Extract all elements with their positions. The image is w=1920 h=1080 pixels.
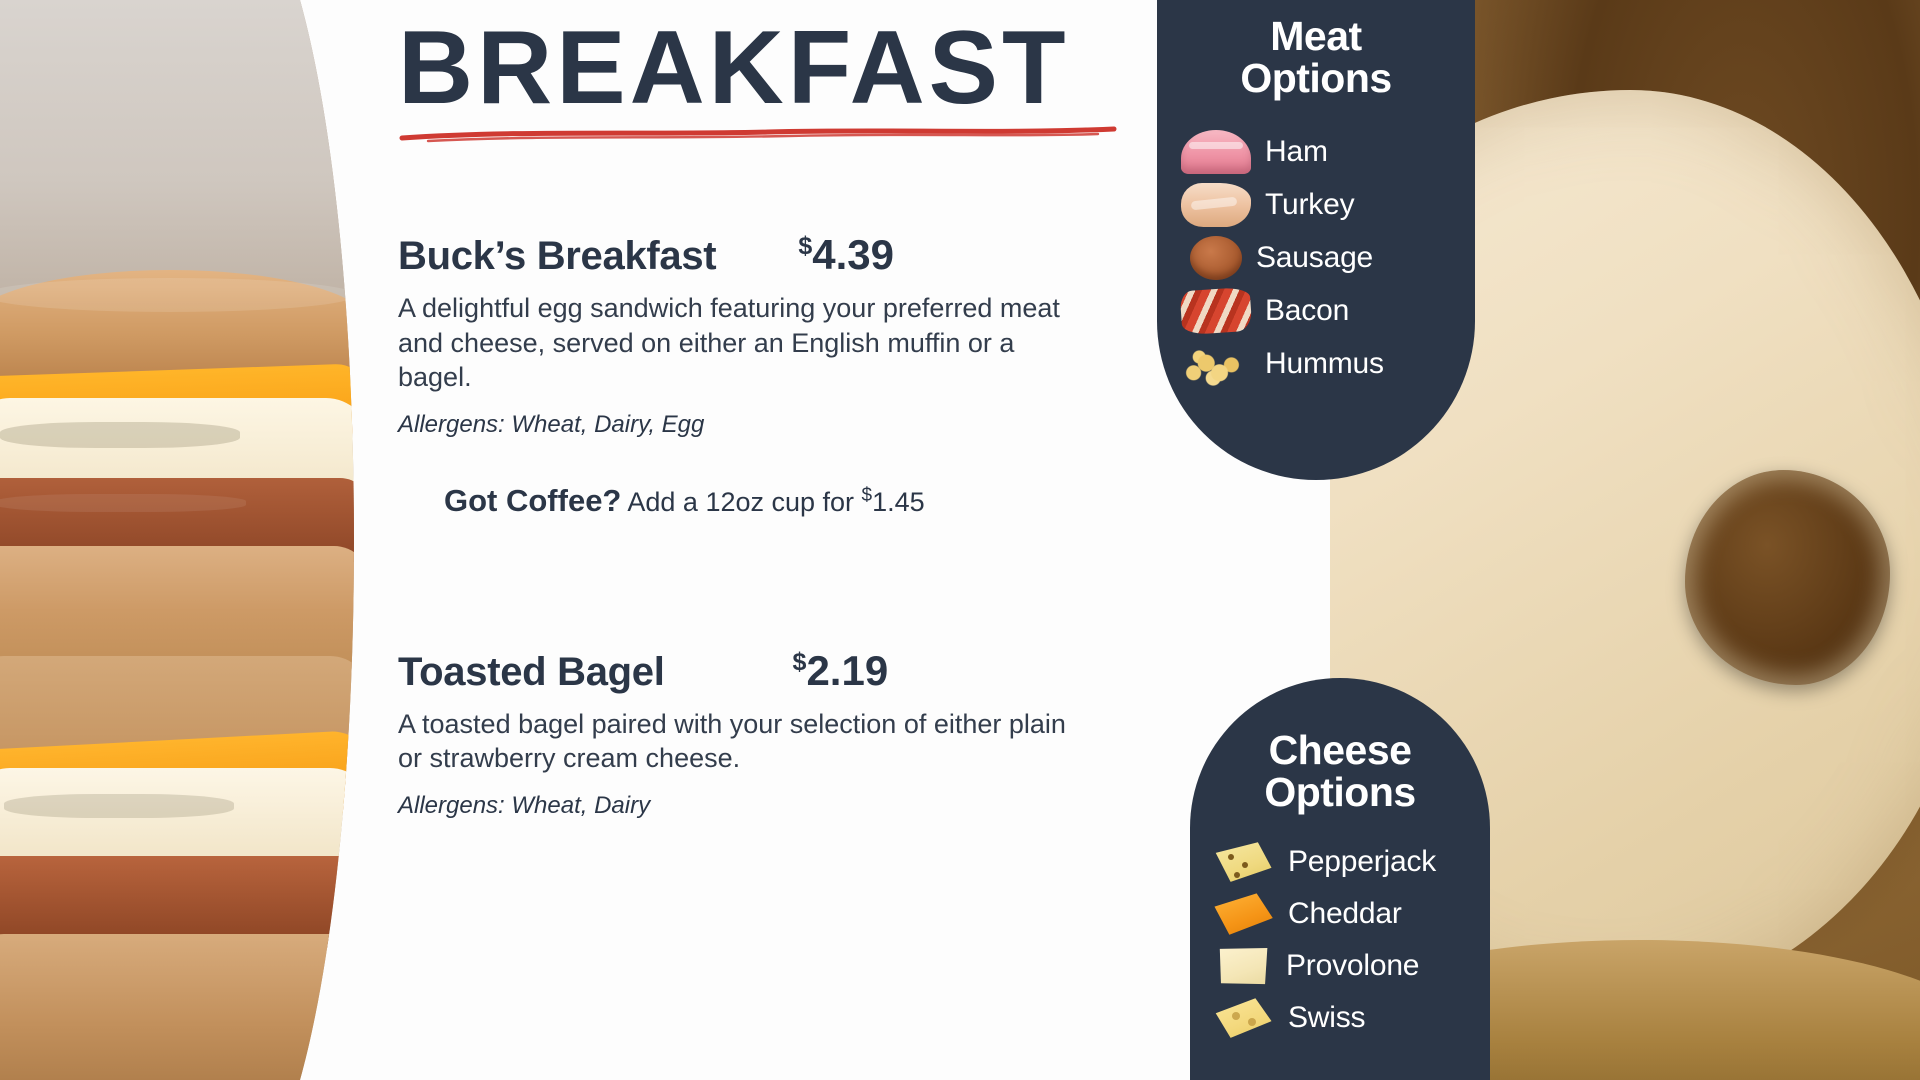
coffee-promo: Got Coffee? Add a 12oz cup for $1.45 bbox=[392, 483, 1142, 519]
list-item[interactable]: Turkey bbox=[1181, 179, 1457, 232]
option-label: Provolone bbox=[1286, 949, 1419, 983]
option-label: Swiss bbox=[1288, 1001, 1365, 1035]
hummus-icon bbox=[1181, 342, 1251, 386]
currency-symbol: $ bbox=[798, 232, 812, 260]
price-value: 4.39 bbox=[812, 231, 894, 278]
item-name: Toasted Bagel bbox=[398, 650, 665, 695]
sausage-icon bbox=[1190, 236, 1242, 280]
option-label: Ham bbox=[1265, 135, 1328, 169]
item-description: A delightful egg sandwich featuring your… bbox=[398, 291, 1088, 395]
bagel-hole bbox=[1685, 470, 1890, 685]
menu-item-toasted-bagel: Toasted Bagel $2.19 A toasted bagel pair… bbox=[392, 647, 1142, 820]
promo-price: 1.45 bbox=[872, 487, 925, 517]
cheese-options-list: Pepperjack Cheddar Provolone Swiss bbox=[1208, 836, 1472, 1044]
sandwich-stack bbox=[0, 270, 372, 1080]
option-label: Pepperjack bbox=[1288, 845, 1436, 879]
cheese-options-card: Cheese Options Pepperjack Cheddar Provol… bbox=[1190, 678, 1490, 1080]
cheese-options-title: Cheese Options bbox=[1208, 730, 1472, 814]
menu-board: BREAKFAST Buck’s Breakfast $4.39 A delig… bbox=[0, 0, 1920, 1080]
item-header-row: Buck’s Breakfast $4.39 bbox=[398, 231, 1142, 279]
list-item[interactable]: Bacon bbox=[1181, 285, 1457, 338]
promo-currency: $ bbox=[862, 485, 873, 506]
meat-options-list: Ham Turkey Sausage Bacon Hummus bbox=[1175, 126, 1457, 391]
list-item[interactable]: Pepperjack bbox=[1208, 836, 1472, 888]
swiss-icon bbox=[1212, 996, 1274, 1040]
list-item[interactable]: Cheddar bbox=[1208, 888, 1472, 940]
item-header-row: Toasted Bagel $2.19 bbox=[398, 647, 1142, 695]
option-label: Cheddar bbox=[1288, 897, 1402, 931]
list-item[interactable]: Sausage bbox=[1181, 232, 1457, 285]
option-label: Turkey bbox=[1265, 188, 1354, 222]
promo-headline: Got Coffee? bbox=[444, 483, 621, 518]
menu-content: BREAKFAST Buck’s Breakfast $4.39 A delig… bbox=[372, 0, 1162, 1080]
option-label: Hummus bbox=[1265, 347, 1384, 381]
price-value: 2.19 bbox=[806, 647, 888, 694]
bacon-icon bbox=[1180, 287, 1253, 336]
egg-layer-2 bbox=[0, 768, 370, 864]
cheddar-icon bbox=[1212, 892, 1274, 936]
promo-text: Add a 12oz cup for bbox=[621, 487, 861, 517]
item-allergens: Allergens: Wheat, Dairy bbox=[398, 792, 1142, 820]
egg-layer bbox=[0, 398, 370, 490]
meat-options-title: Meat Options bbox=[1175, 16, 1457, 100]
muffin-bottom-layer bbox=[0, 934, 370, 1080]
item-name: Buck’s Breakfast bbox=[398, 234, 716, 279]
list-item[interactable]: Swiss bbox=[1208, 992, 1472, 1044]
option-label: Sausage bbox=[1256, 241, 1373, 275]
menu-item-buck-breakfast: Buck’s Breakfast $4.39 A delightful egg … bbox=[392, 231, 1142, 439]
allergens-label: Allergens: bbox=[398, 792, 505, 819]
cheese-options-title-line2: Options bbox=[1208, 772, 1472, 814]
pepperjack-icon bbox=[1212, 840, 1274, 884]
provolone-icon bbox=[1214, 944, 1272, 988]
cheese-options-title-line1: Cheese bbox=[1208, 730, 1472, 772]
ham-icon bbox=[1181, 130, 1251, 174]
list-item[interactable]: Ham bbox=[1181, 126, 1457, 179]
allergens-label: Allergens: bbox=[398, 411, 505, 438]
meat-options-title-line2: Options bbox=[1175, 58, 1457, 100]
meat-options-card: Meat Options Ham Turkey Sausage Bacon bbox=[1157, 0, 1475, 480]
allergens-value: Wheat, Dairy bbox=[505, 792, 650, 819]
option-label: Bacon bbox=[1265, 294, 1349, 328]
meat-options-title-line1: Meat bbox=[1175, 16, 1457, 58]
breakfast-sandwich-photo bbox=[0, 0, 372, 1080]
item-description: A toasted bagel paired with your selecti… bbox=[398, 707, 1088, 776]
list-item[interactable]: Provolone bbox=[1208, 940, 1472, 992]
title-underline bbox=[398, 125, 1118, 143]
allergens-value: Wheat, Dairy, Egg bbox=[505, 411, 705, 438]
item-price: $4.39 bbox=[798, 231, 894, 279]
item-price: $2.19 bbox=[793, 647, 889, 695]
list-item[interactable]: Hummus bbox=[1181, 338, 1457, 391]
page-title: BREAKFAST bbox=[392, 0, 1142, 123]
item-allergens: Allergens: Wheat, Dairy, Egg bbox=[398, 411, 1142, 439]
currency-symbol: $ bbox=[793, 648, 807, 676]
turkey-icon bbox=[1181, 183, 1251, 227]
photo-background bbox=[0, 0, 367, 300]
